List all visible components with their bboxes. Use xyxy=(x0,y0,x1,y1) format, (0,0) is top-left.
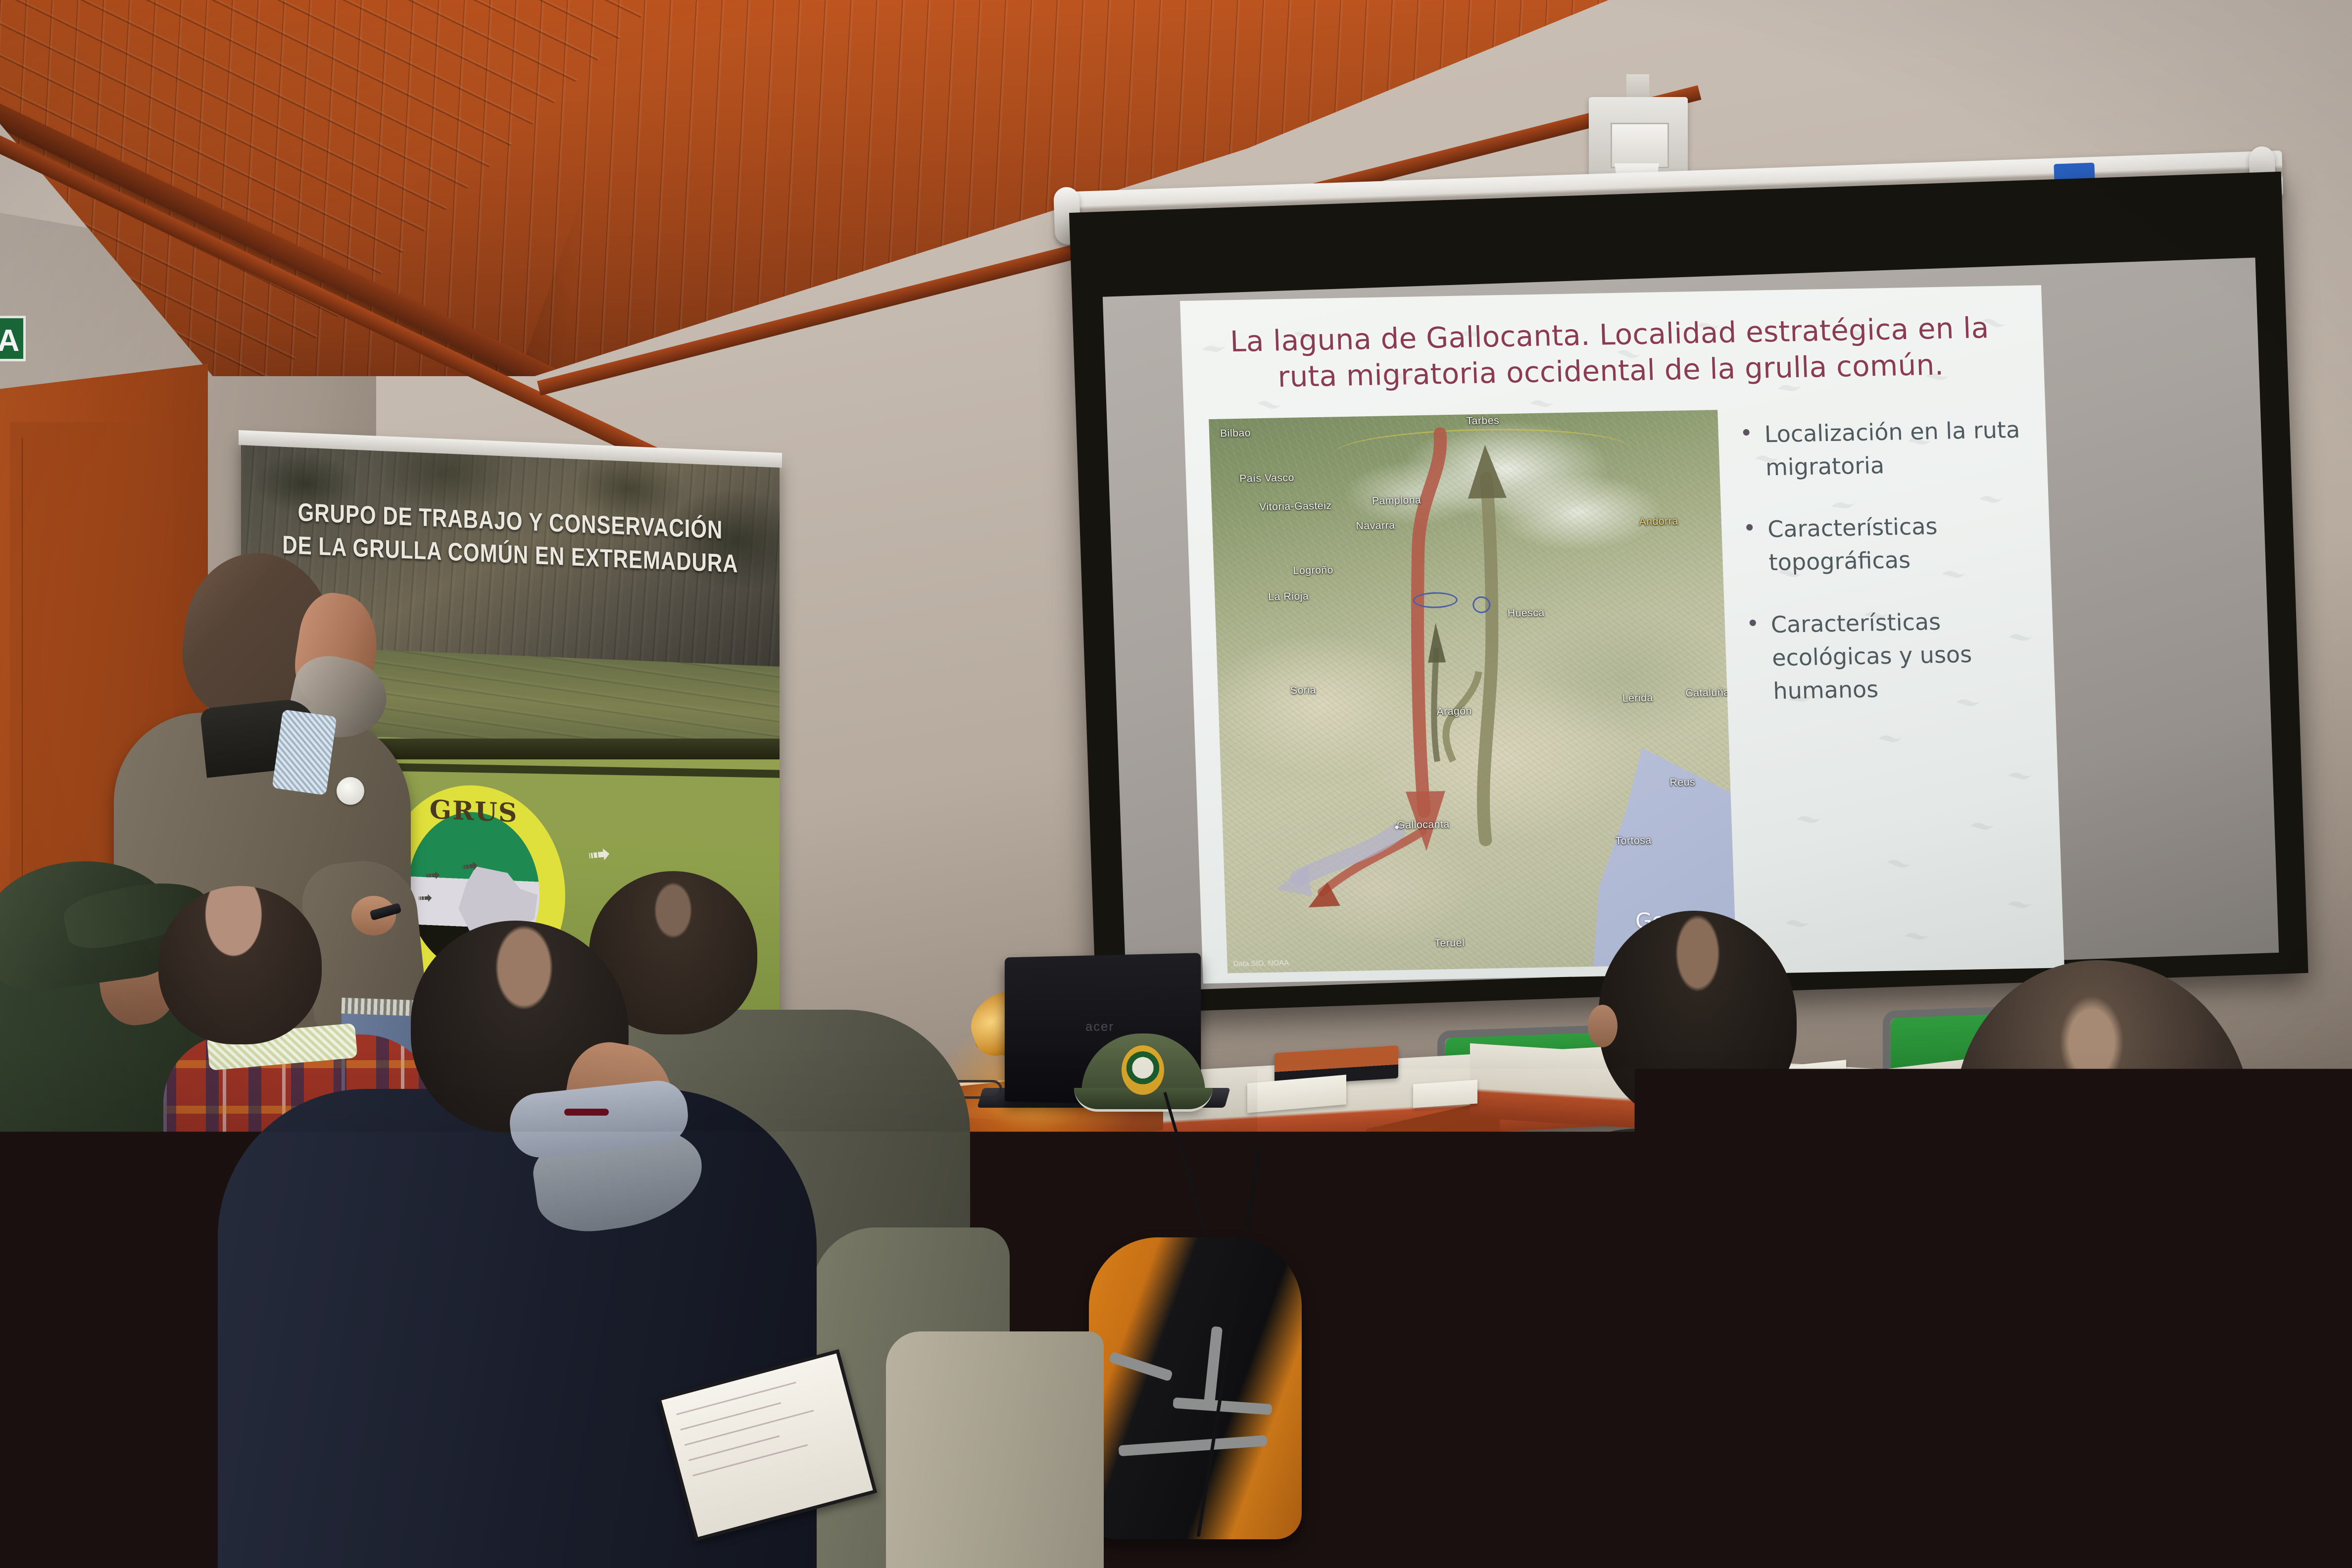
map-label: La Rioja xyxy=(1268,590,1309,603)
map-label: Lérida xyxy=(1622,692,1653,705)
map-label: Andorra xyxy=(1639,516,1678,528)
map-credit: Data SIO, NOAA xyxy=(1233,959,1289,968)
exit-sign-letter: A xyxy=(0,318,23,359)
bullet-dot-icon xyxy=(1743,429,1749,436)
presenter-badge xyxy=(337,777,364,805)
map-label: Reus xyxy=(1669,777,1695,789)
map-label: Bilbao xyxy=(1220,427,1251,440)
slide-bullet: Características ecológicas y usos humano… xyxy=(1749,603,2035,708)
hiking-backpack xyxy=(1089,1237,1302,1539)
map-label: Cataluña xyxy=(1685,687,1730,700)
slide-bullet-label: Características ecológicas y usos humano… xyxy=(1770,603,2035,708)
slide-title: La laguna de Gallocanta. Localidad estra… xyxy=(1211,309,2010,396)
slide-bullet: Características topográficas xyxy=(1746,508,2030,580)
map-label: Soria xyxy=(1290,685,1317,697)
migration-arrows xyxy=(1209,410,1736,973)
projected-slide: La laguna de Gallocanta. Localidad estra… xyxy=(1180,285,2064,983)
slide-bullet-label: Características topográficas xyxy=(1767,508,2030,580)
map-label: Tortosa xyxy=(1615,835,1652,847)
map-label: Navarra xyxy=(1356,520,1395,532)
google-earth-map: BilbaoTarbesPaís VascoVitoria-GasteizPam… xyxy=(1209,410,1736,973)
map-label: Tarbes xyxy=(1466,415,1499,427)
slide-bullet: Localización en la ruta migratoria xyxy=(1743,413,2027,485)
table-side-panel xyxy=(1366,1098,1500,1505)
cap-grus-logo xyxy=(1122,1045,1164,1095)
slide-bullet-list: Localización en la ruta migratoriaCaract… xyxy=(1743,413,2036,737)
map-label: Gallocanta xyxy=(1397,819,1450,832)
map-label: País Vasco xyxy=(1239,472,1294,485)
emergency-exit-sign: A xyxy=(0,316,26,361)
map-label: Logroño xyxy=(1293,564,1333,577)
map-label: Pamplona xyxy=(1372,494,1421,507)
bullet-dot-icon xyxy=(1750,619,1756,626)
slide-bullet-label: Localización en la ruta migratoria xyxy=(1764,413,2027,485)
map-label: Vitoria-Gasteiz xyxy=(1259,500,1332,513)
map-label: Aragón xyxy=(1436,705,1472,718)
bullet-dot-icon xyxy=(1746,524,1753,531)
map-label: Teruel xyxy=(1434,937,1465,950)
leaflet[interactable] xyxy=(1413,1079,1477,1108)
photo-scene: A xyxy=(0,0,2352,1568)
map-label: Huesca xyxy=(1507,607,1545,620)
